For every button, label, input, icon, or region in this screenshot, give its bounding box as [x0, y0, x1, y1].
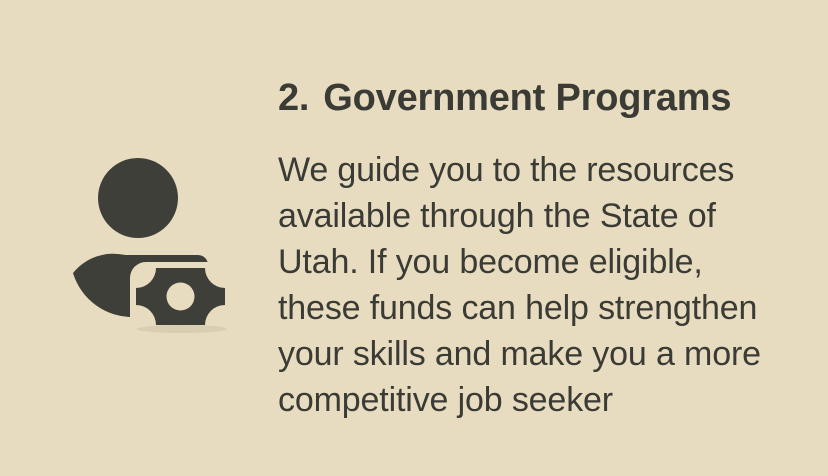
banknote-shape — [136, 268, 225, 325]
heading-title: Government Programs — [323, 76, 731, 120]
body-line: We guide you to the resources — [278, 147, 778, 193]
text-column: 2. Government Programs We guide you to t… — [278, 76, 798, 423]
banknote-shadow — [137, 325, 227, 333]
body-paragraph: We guide you to the resources available … — [278, 147, 778, 423]
slide-root: 2. Government Programs We guide you to t… — [0, 0, 828, 476]
body-line: competitive job seeker — [278, 377, 778, 423]
person-with-money-icon — [60, 145, 240, 340]
body-line: these funds can help strengthen — [278, 285, 778, 331]
person-with-money-icon-svg — [60, 145, 240, 340]
body-line: your skills and make you a more — [278, 331, 778, 377]
body-line: Utah. If you become eligible, — [278, 239, 778, 285]
heading-number: 2. — [278, 76, 309, 120]
page-title: 2. Government Programs — [278, 76, 798, 120]
body-line: available through the State of — [278, 193, 778, 239]
person-head-circle — [98, 158, 178, 238]
